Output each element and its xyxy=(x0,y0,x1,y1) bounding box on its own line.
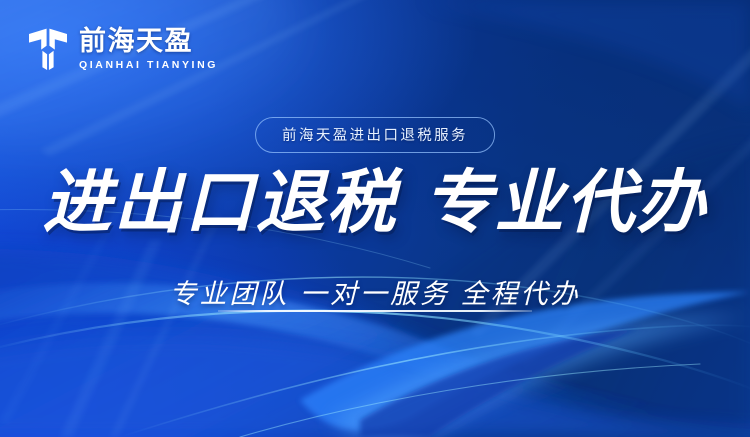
brand-name-en: QIANHAI TIANYING xyxy=(79,59,218,71)
brand-name-cn: 前海天盈 xyxy=(79,27,218,55)
subtitle: 专业团队 一对一服务 全程代办 xyxy=(0,272,750,311)
service-badge: 前海天盈进出口退税服务 xyxy=(255,117,495,153)
page-title: 进出口退税专业代办 xyxy=(0,166,750,241)
brand-logo[interactable]: 前海天盈 QIANHAI TIANYING xyxy=(28,27,218,71)
brand-logo-text: 前海天盈 QIANHAI TIANYING xyxy=(79,27,218,70)
subtitle-underline xyxy=(218,310,532,312)
logo-t-mark-icon xyxy=(28,27,68,71)
headline-part-1: 进出口退税 xyxy=(43,164,398,241)
headline-part-2: 专业代办 xyxy=(424,164,708,241)
promo-banner: 前海天盈 QIANHAI TIANYING 前海天盈进出口退税服务 进出口退税专… xyxy=(0,0,750,437)
